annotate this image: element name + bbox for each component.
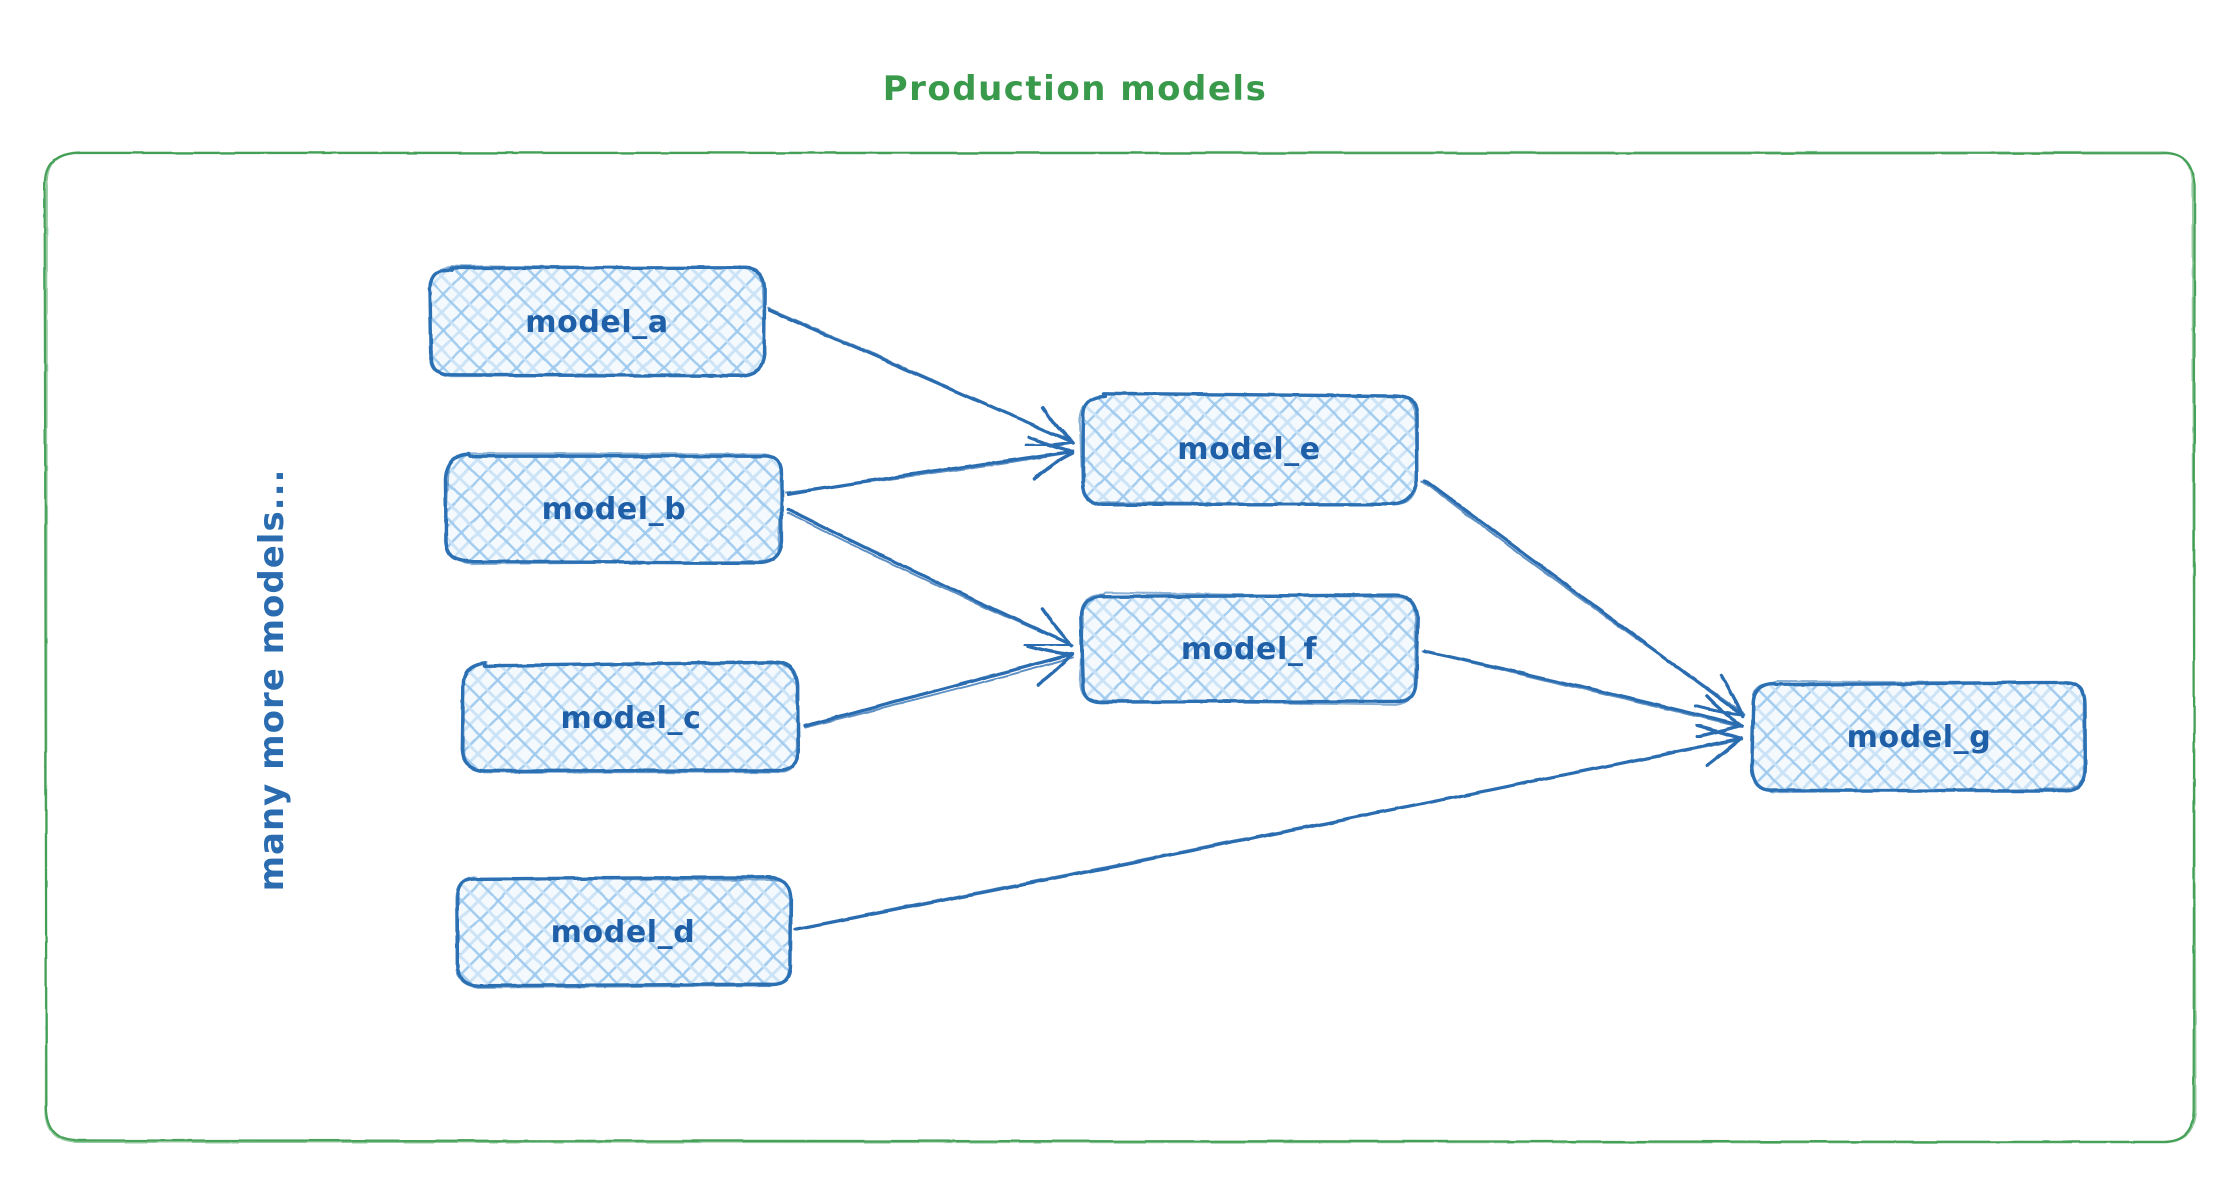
node-model_a[interactable]: model_a — [430, 266, 765, 376]
node-model_g[interactable]: model_g — [1751, 682, 2085, 793]
edge-model_f-to-model_g — [1423, 651, 1743, 737]
edge-model_c-to-model_f — [804, 646, 1073, 728]
node-model_e[interactable]: model_e — [1080, 393, 1417, 504]
node-label: model_c — [561, 701, 702, 736]
node-label: model_e — [1177, 432, 1321, 467]
group-title: Production models — [883, 69, 1268, 109]
edge-model_a-to-model_e — [768, 308, 1073, 445]
edge-model_d-to-model_g — [795, 726, 1742, 930]
node-label: model_b — [542, 492, 687, 527]
edge-model_e-to-model_g — [1422, 481, 1743, 717]
many-more-models-note: many more models... — [252, 469, 292, 892]
diagram-canvas: model_amodel_bmodel_cmodel_dmodel_emodel… — [0, 0, 2240, 1188]
node-model_c[interactable]: model_c — [462, 662, 798, 773]
node-model_d[interactable]: model_d — [456, 877, 791, 988]
node-label: model_g — [1847, 720, 1992, 755]
edge-model_b-to-model_f — [788, 509, 1073, 646]
node-model_b[interactable]: model_b — [445, 453, 782, 564]
node-label: model_f — [1181, 632, 1318, 667]
node-label: model_d — [551, 915, 696, 950]
node-layer: model_amodel_bmodel_cmodel_dmodel_emodel… — [430, 266, 2085, 987]
dag-svg: model_amodel_bmodel_cmodel_dmodel_emodel… — [0, 0, 2240, 1188]
node-model_f[interactable]: model_f — [1080, 593, 1417, 705]
node-label: model_a — [525, 305, 668, 340]
